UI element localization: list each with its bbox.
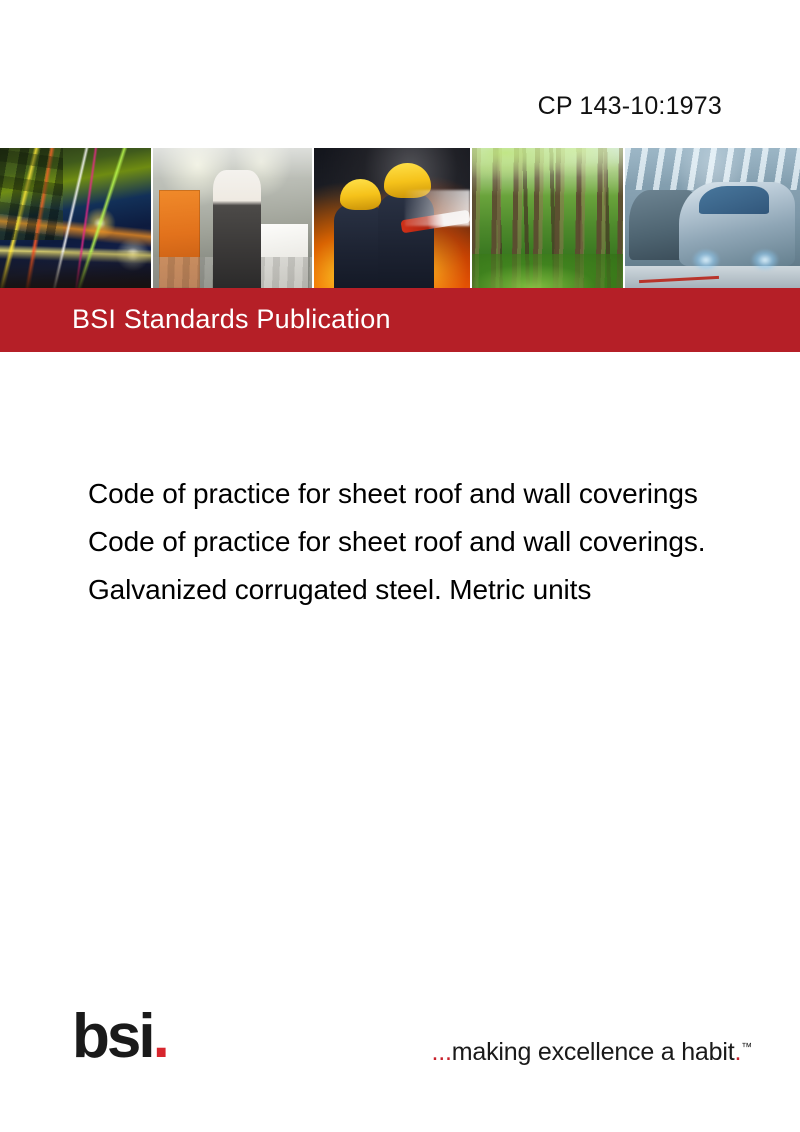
tagline-text: making excellence a habit xyxy=(452,1038,735,1066)
car-headlamp-left-glow xyxy=(692,249,720,271)
bsi-logo-dot: . xyxy=(153,1002,167,1071)
title-line-3: Galvanized corrugated steel. Metric unit… xyxy=(88,566,800,614)
photo-panel-car-assembly-line xyxy=(625,148,800,288)
publisher-banner-label: BSI Standards Publication xyxy=(72,304,391,335)
photo-panel-warehouse-worker xyxy=(153,148,314,288)
photo-panel-forest xyxy=(472,148,625,288)
bsi-logo: bsi. xyxy=(72,1006,167,1068)
photo-panel-traffic-light-trails xyxy=(0,148,153,288)
firefighter-body-rear-shape xyxy=(334,204,384,288)
warehouse-floor-shape xyxy=(153,257,312,288)
title-line-2: Code of practice for sheet roof and wall… xyxy=(88,518,800,566)
forest-canopy-shape xyxy=(472,148,623,196)
cover-photo-strip xyxy=(0,148,800,288)
publisher-banner: BSI Standards Publication xyxy=(0,288,800,352)
title-line-1: Code of practice for sheet roof and wall… xyxy=(88,470,800,518)
firefighter-helmet-rear-shape xyxy=(340,179,381,210)
photo-panel-firefighters xyxy=(314,148,473,288)
standard-number: CP 143-10:1973 xyxy=(538,92,722,121)
trademark-symbol: ™ xyxy=(741,1042,752,1054)
forest-floor-shape xyxy=(472,254,623,288)
bsi-tagline: ...making excellence a habit.™ xyxy=(432,1038,752,1067)
bsi-logo-text: bsi xyxy=(72,1002,153,1071)
document-title: Code of practice for sheet roof and wall… xyxy=(88,470,800,614)
tagline-leading-ellipsis: ... xyxy=(432,1038,452,1066)
water-spray-shape xyxy=(405,190,471,226)
car-headlamp-right-glow xyxy=(751,249,779,271)
car-windshield-shape xyxy=(699,186,769,214)
